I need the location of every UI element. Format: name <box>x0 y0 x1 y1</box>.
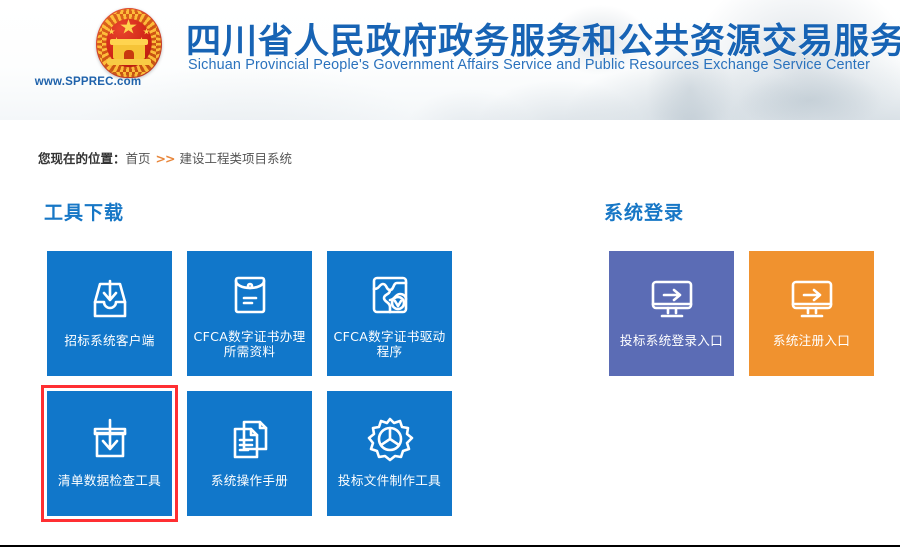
tile-label: 投标文件制作工具 <box>330 473 449 488</box>
download-tray-icon <box>82 271 138 327</box>
breadcrumb-item-home[interactable]: 首页 <box>126 151 151 166</box>
site-url-text: www.SPPREC.com <box>0 76 176 88</box>
tile-label: 系统操作手册 <box>190 473 309 488</box>
site-header: www.SPPREC.com 四川省人民政府政务服务和公共资源交易服务中心 Si… <box>0 0 900 120</box>
login-tile-grid: 投标系统登录入口系统注册入口 <box>609 251 874 376</box>
emblem-base <box>107 59 151 65</box>
tile-envelope-document[interactable]: CFCA数字证书办理所需资料 <box>187 251 312 376</box>
tile-download-tray[interactable]: 招标系统客户端 <box>47 251 172 376</box>
monitor-arrow-icon <box>784 271 840 327</box>
tile-label: 招标系统客户端 <box>50 333 169 348</box>
documents-icon <box>222 411 278 467</box>
emblem-small-star-4 <box>143 28 150 35</box>
gear-wheel-icon <box>362 411 418 467</box>
tile-label: 投标系统登录入口 <box>612 333 731 348</box>
puzzle-driver-icon <box>362 267 418 323</box>
tile-label: 系统注册入口 <box>752 333 871 348</box>
tools-tile-grid: 招标系统客户端CFCA数字证书办理所需资料CFCA数字证书驱动程序清单数据检查工… <box>47 251 452 516</box>
breadcrumb: 您现在的位置：首页>>建设工程类项目系统 <box>38 148 292 167</box>
tile-monitor-arrow[interactable]: 投标系统登录入口 <box>609 251 734 376</box>
china-national-emblem-icon <box>96 8 162 78</box>
login-section-title: 系统登录 <box>604 198 684 225</box>
tools-section-title: 工具下载 <box>44 198 124 225</box>
breadcrumb-separator-icon: >> <box>156 151 175 166</box>
breadcrumb-item-current: 建设工程类项目系统 <box>179 151 292 166</box>
tile-label: CFCA数字证书驱动程序 <box>330 329 449 359</box>
breadcrumb-label: 您现在的位置： <box>38 151 126 166</box>
emblem-small-star-1 <box>108 28 115 35</box>
tile-monitor-arrow[interactable]: 系统注册入口 <box>749 251 874 376</box>
site-title-english: Sichuan Provincial People's Government A… <box>188 57 870 73</box>
tile-gear-wheel[interactable]: 投标文件制作工具 <box>327 391 452 516</box>
monitor-arrow-icon <box>644 271 700 327</box>
tile-download-box[interactable]: 清单数据检查工具 <box>47 391 172 516</box>
envelope-document-icon <box>222 267 278 323</box>
tile-puzzle-driver[interactable]: CFCA数字证书驱动程序 <box>327 251 452 376</box>
tile-documents[interactable]: 系统操作手册 <box>187 391 312 516</box>
emblem-tiananmen-gate <box>113 44 145 59</box>
tile-label: CFCA数字证书办理所需资料 <box>190 329 309 359</box>
download-box-icon <box>82 411 138 467</box>
tile-label: 清单数据检查工具 <box>50 473 169 488</box>
emblem-big-star <box>120 19 137 35</box>
